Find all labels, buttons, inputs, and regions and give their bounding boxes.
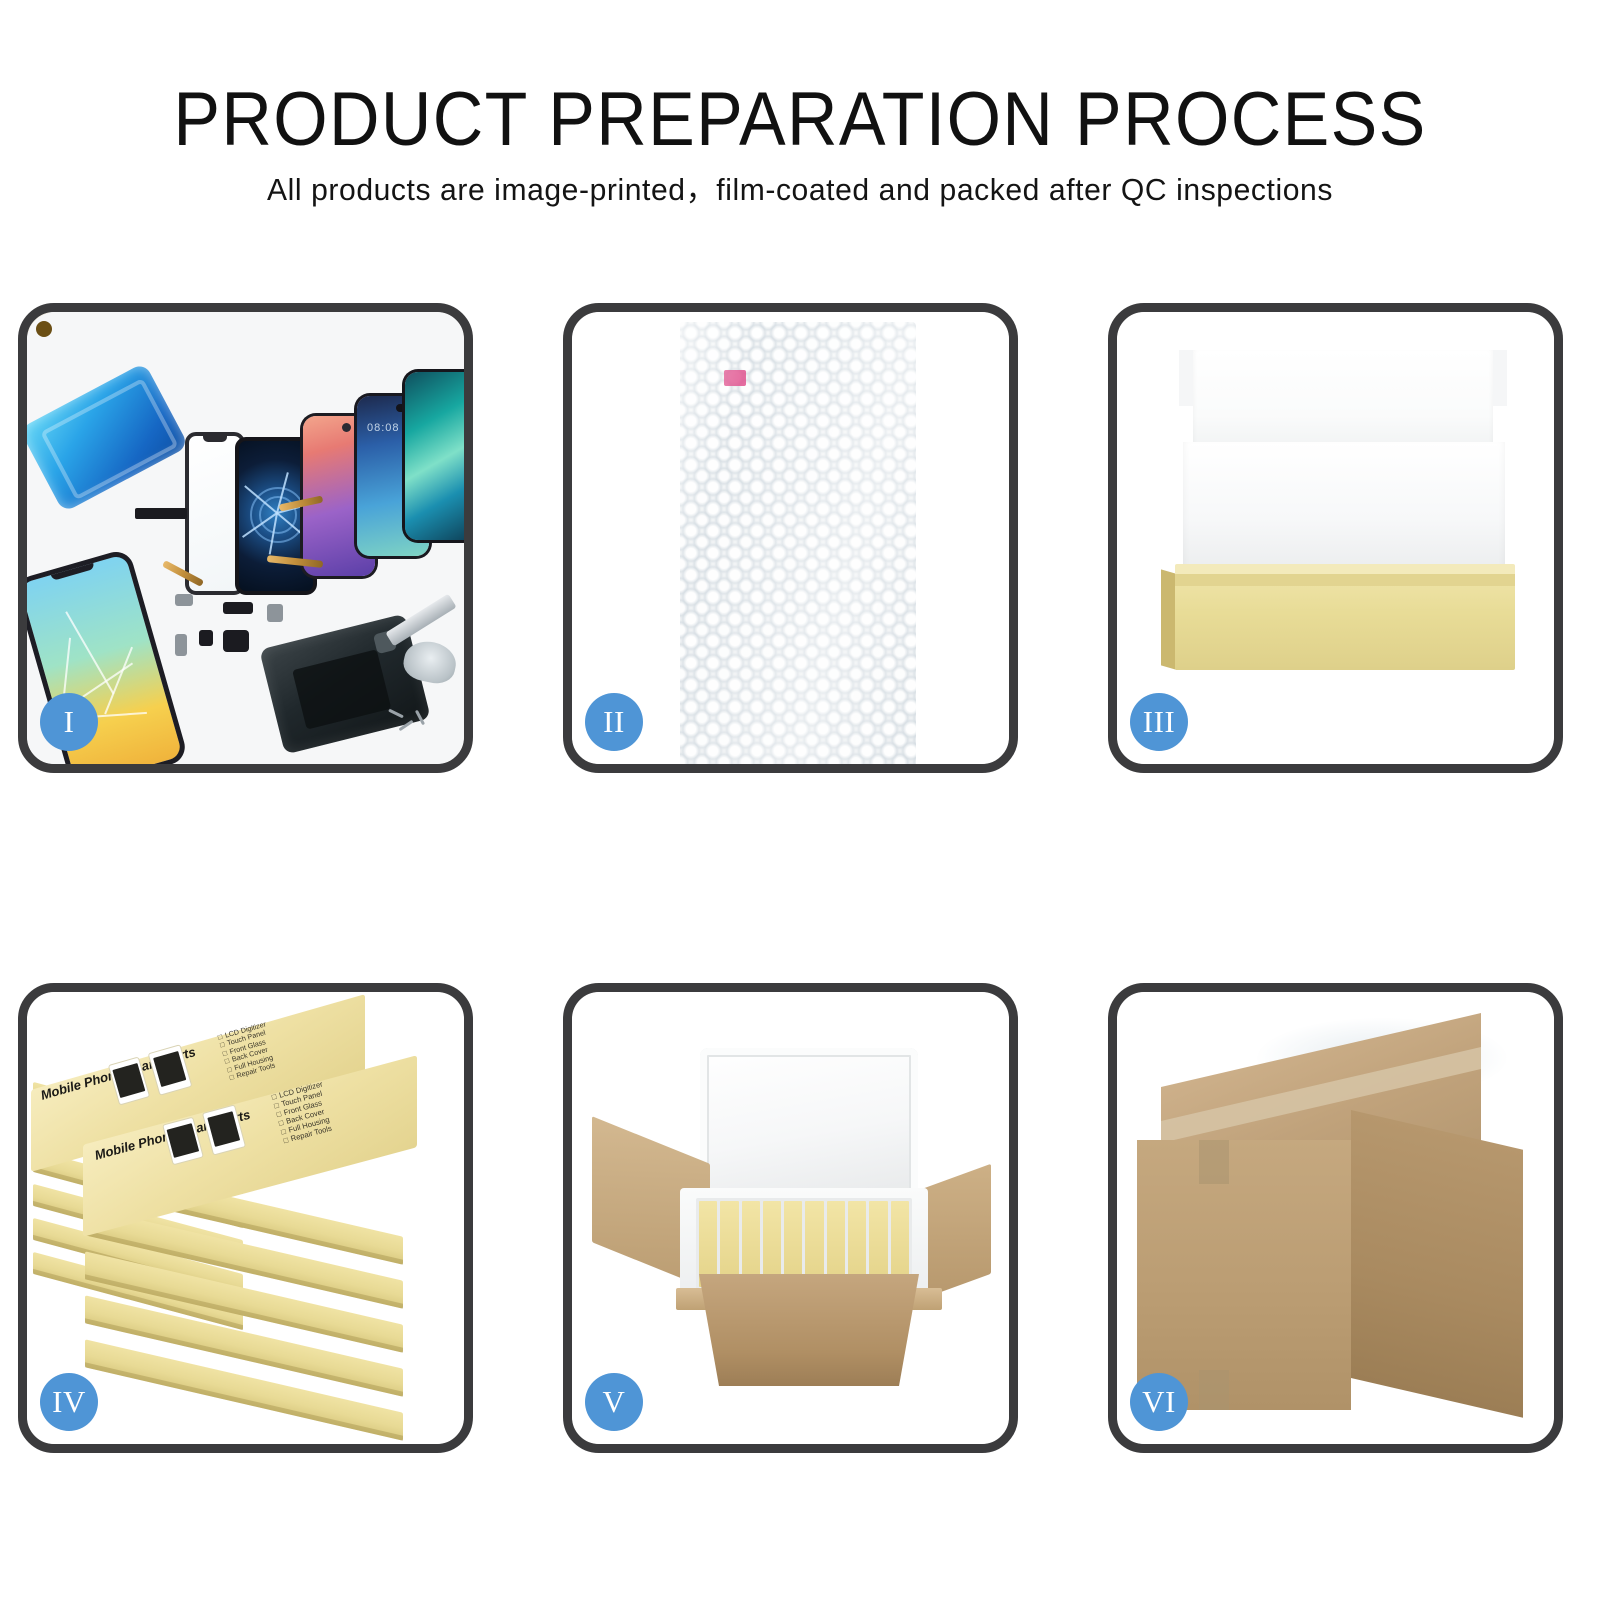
green-wave-phone-display bbox=[405, 372, 464, 540]
stacked-retail-boxes-image: Mobile Phone Spare Parts LCD Digitizer T… bbox=[27, 992, 464, 1444]
sealed-shipping-carton-image bbox=[1117, 992, 1554, 1444]
step-badge-4: IV bbox=[40, 1373, 98, 1431]
battery-part bbox=[292, 649, 391, 729]
process-step-panel-3: III bbox=[1108, 303, 1563, 773]
earpiece-part bbox=[223, 630, 249, 652]
bubble-wrap-layer bbox=[680, 322, 916, 764]
carton-body bbox=[684, 1274, 934, 1386]
process-step-gallery: 08:08 bbox=[0, 0, 1600, 1600]
carton-front-face bbox=[1137, 1140, 1351, 1410]
metal-bracket-part bbox=[175, 594, 193, 606]
box-stack: Mobile Phone Spare Parts LCD Digitizer T… bbox=[27, 992, 464, 1444]
button-part bbox=[199, 630, 213, 646]
sim-tray-part bbox=[175, 634, 187, 656]
phone-clock-label: 08:08 bbox=[367, 422, 400, 434]
carton-with-foam-cooler-image bbox=[572, 992, 1009, 1444]
carton-flap-seam bbox=[1199, 1370, 1229, 1410]
styrofoam-lid bbox=[700, 1048, 918, 1200]
open-yellow-box-image bbox=[1117, 312, 1554, 764]
speaker-mesh-part bbox=[135, 508, 187, 519]
step-badge-6: VI bbox=[1130, 1373, 1188, 1431]
step-badge-3: III bbox=[1130, 693, 1188, 751]
step-badge-5: V bbox=[585, 1373, 643, 1431]
screwdriver-set-part bbox=[388, 710, 434, 740]
bubble-wrapped-screen-image bbox=[572, 312, 1009, 764]
carton-flap-seam bbox=[1199, 1140, 1229, 1184]
connector-part bbox=[223, 602, 253, 614]
carton-side-face bbox=[1351, 1110, 1523, 1418]
white-foam-sheet bbox=[1183, 442, 1505, 582]
process-step-panel-5: V bbox=[563, 983, 1018, 1453]
yellow-box-front bbox=[1175, 574, 1515, 670]
process-step-panel-1: 08:08 bbox=[18, 303, 473, 773]
vibration-motor-part bbox=[267, 604, 283, 622]
spare-parts-assortment-image: 08:08 bbox=[27, 312, 464, 764]
step-badge-2: II bbox=[585, 693, 643, 751]
qc-sticker bbox=[724, 370, 746, 386]
box-front-lip bbox=[1175, 574, 1515, 586]
process-step-panel-2: II bbox=[563, 303, 1018, 773]
process-step-panel-6: VI bbox=[1108, 983, 1563, 1453]
process-step-panel-4: Mobile Phone Spare Parts LCD Digitizer T… bbox=[18, 983, 473, 1453]
step-badge-1: I bbox=[40, 693, 98, 751]
